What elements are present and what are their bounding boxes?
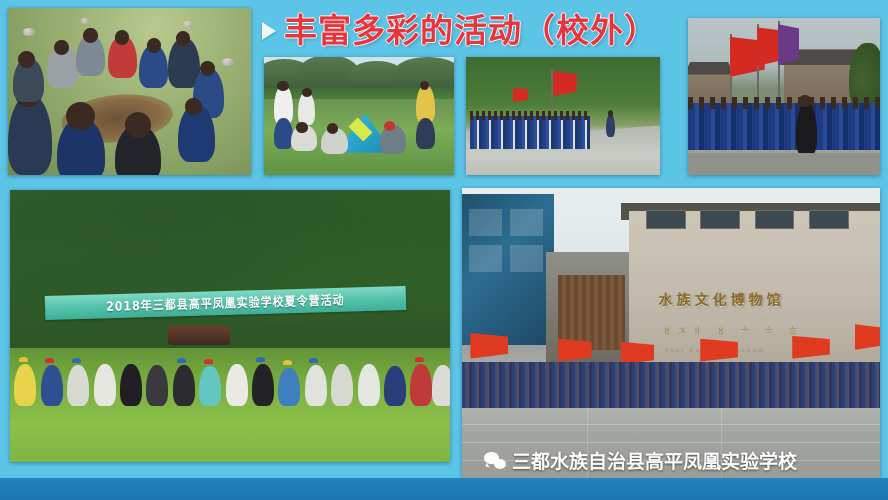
forest-background (10, 190, 450, 348)
seated-people-row (10, 353, 450, 413)
page-title: 丰富多彩的活动（校外） (284, 14, 658, 47)
museum-group-photo: 水族文化博物馆 〥〤〢 〥 〦 〧 〨 Shui Culture Museum (462, 188, 880, 478)
red-flag (553, 71, 576, 97)
student-column (688, 103, 880, 150)
person-figure (173, 365, 195, 406)
motorcycle (168, 326, 230, 345)
stone (81, 18, 90, 24)
student-crowd (462, 362, 880, 408)
person-figure (384, 366, 406, 405)
person-figure (67, 365, 89, 406)
hat (177, 358, 186, 363)
clerestory-window (646, 210, 686, 229)
student-legs (274, 118, 293, 149)
wechat-icon (484, 452, 506, 469)
hat (19, 357, 28, 362)
road-march-photo (466, 57, 660, 175)
person-figure (94, 364, 116, 406)
person-figure (358, 364, 380, 406)
student-head (147, 38, 162, 53)
red-flag (513, 88, 529, 103)
student-head (296, 122, 307, 133)
stone (23, 28, 35, 36)
person-figure (432, 365, 450, 406)
museum-sign-chinese: 水族文化博物馆 (658, 290, 784, 310)
banner-text: 2018年三都县高平凤凰实验学校夏令营活动 (106, 290, 345, 315)
play-triangle-icon (262, 22, 276, 40)
person-figure (199, 366, 221, 405)
watermark-text: 三都水族自治县高平凤凰实验学校 (512, 447, 797, 474)
person-figure (146, 365, 168, 406)
museum-wall (629, 211, 880, 362)
wooden-facade (558, 275, 625, 350)
student-heads-row (688, 97, 880, 110)
flag-pole (551, 69, 553, 109)
glass-building (462, 194, 554, 345)
hat (45, 358, 54, 363)
student-figure (8, 95, 52, 175)
person-figure (278, 368, 300, 406)
bottom-color-band (0, 478, 888, 500)
clerestory-window (700, 210, 740, 229)
student-head (83, 28, 98, 43)
window (469, 245, 502, 272)
student-head (302, 88, 312, 97)
person-figure (331, 364, 353, 406)
hat (72, 358, 81, 363)
student-head (115, 30, 130, 45)
person-figure (226, 364, 248, 406)
road (688, 153, 880, 175)
village-march-photo (688, 18, 880, 175)
hat (309, 358, 318, 363)
tent-pitching-photo (264, 57, 454, 175)
person-figure (410, 364, 432, 406)
picnic-circle-photo (8, 8, 251, 175)
hat (283, 360, 292, 365)
stone (183, 21, 193, 28)
student-head (277, 81, 288, 92)
adult-legs (416, 118, 435, 149)
window (510, 209, 543, 236)
hat (415, 357, 424, 362)
window (510, 245, 543, 272)
student-column (470, 116, 590, 149)
student-head (54, 40, 69, 55)
museum-sign-shui-script: 〥〤〢 〥 〦 〧 〨 (663, 324, 803, 337)
lone-walker (606, 114, 616, 138)
window (469, 209, 502, 236)
person-figure (305, 365, 327, 406)
person-figure (41, 365, 63, 406)
wechat-watermark: 三都水族自治县高平凤凰实验学校 (484, 447, 797, 474)
teacher-figure (796, 103, 817, 156)
summer-camp-banner-photo: 2018年三都县高平凤凰实验学校夏令营活动 (10, 190, 450, 462)
red-flag (470, 333, 508, 359)
student-figure (298, 92, 315, 125)
student-head (18, 51, 35, 68)
person-figure (252, 364, 274, 406)
clerestory-window (809, 210, 849, 229)
stone (222, 58, 234, 66)
house-roof (688, 62, 734, 75)
hat (204, 359, 213, 364)
student-head (200, 61, 215, 76)
person-figure (120, 364, 142, 406)
clerestory-window (755, 210, 795, 229)
student-heads-row (470, 111, 590, 119)
hat (256, 357, 265, 362)
slide-title: 丰富多彩的活动（校外） (262, 14, 658, 47)
student-head (327, 123, 338, 134)
presentation-slide: 丰富多彩的活动（校外） (0, 0, 888, 500)
person-figure (14, 364, 36, 406)
